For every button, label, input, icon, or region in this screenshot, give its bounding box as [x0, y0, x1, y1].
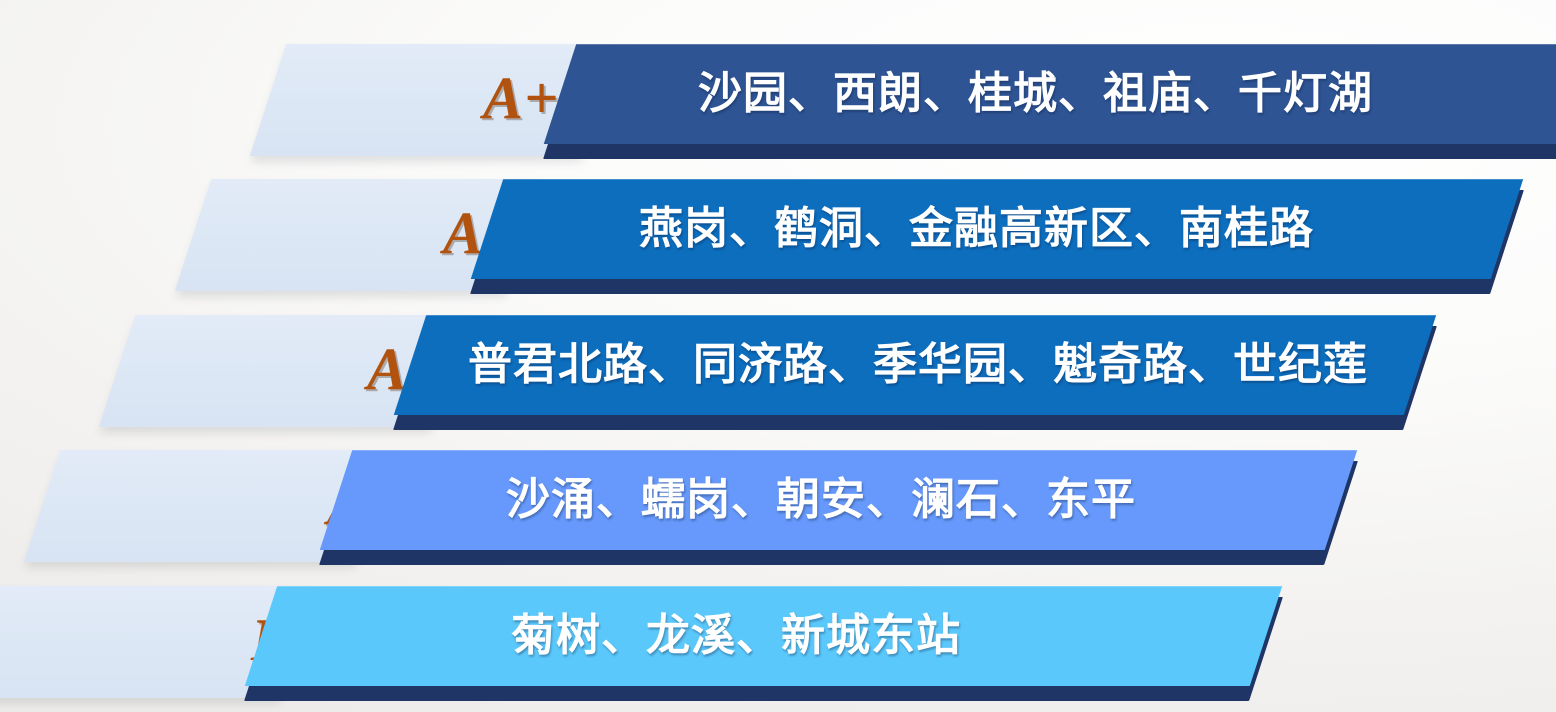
station-bar-wrapper: 燕岗、鹤洞、金融高新区、南桂路	[487, 179, 1507, 291]
station-list-label: 燕岗、鹤洞、金融高新区、南桂路	[639, 207, 1314, 251]
station-list-label: 沙涌、蠕岗、朝安、澜石、东平	[506, 478, 1136, 522]
station-list-label: 沙园、西朗、桂城、祖庙、千灯湖	[698, 72, 1373, 116]
station-bar-wrapper: 沙园、西朗、桂城、祖庙、千灯湖	[560, 44, 1556, 156]
station-bar-wrapper: 沙涌、蠕岗、朝安、澜石、东平	[336, 450, 1341, 562]
station-bar: 沙园、西朗、桂城、祖庙、千灯湖	[544, 44, 1556, 144]
station-bar-wrapper: 菊树、龙溪、新城东站	[261, 586, 1266, 698]
station-bar: 沙涌、蠕岗、朝安、澜石、东平	[320, 450, 1357, 550]
ranking-diagram: A++沙园、西朗、桂城、祖庙、千灯湖A+燕岗、鹤洞、金融高新区、南桂路A+普君北…	[0, 0, 1556, 712]
station-list-label: 菊树、龙溪、新城东站	[511, 614, 961, 658]
station-bar: 普君北路、同济路、季华园、魁奇路、世纪莲	[394, 315, 1436, 415]
station-bar: 菊树、龙溪、新城东站	[245, 586, 1282, 686]
station-bar: 燕岗、鹤洞、金融高新区、南桂路	[471, 179, 1523, 279]
station-bar-wrapper: 普君北路、同济路、季华园、魁奇路、世纪莲	[410, 315, 1420, 427]
station-list-label: 普君北路、同济路、季华园、魁奇路、世纪莲	[468, 343, 1368, 387]
